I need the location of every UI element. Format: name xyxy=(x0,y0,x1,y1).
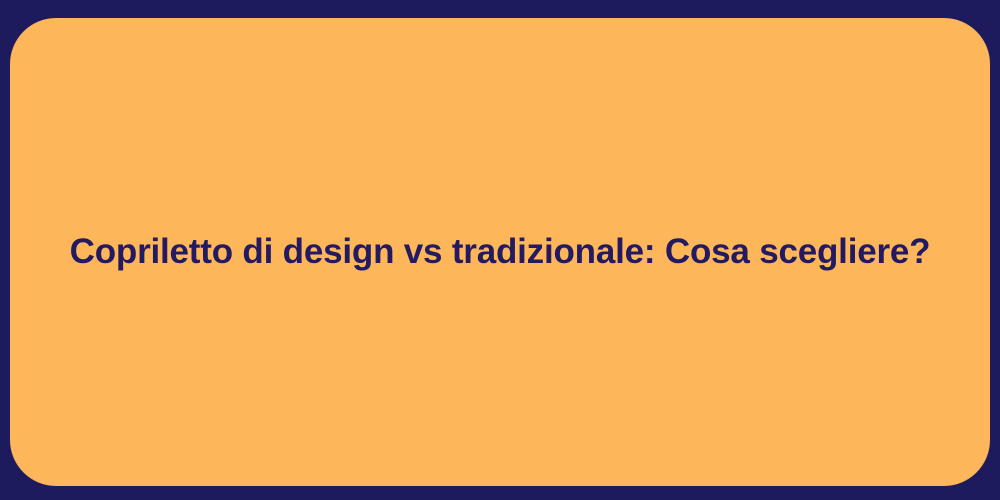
page-title: Copriletto di design vs tradizionale: Co… xyxy=(70,230,931,274)
page-background: Copriletto di design vs tradizionale: Co… xyxy=(0,0,1000,500)
hero-card: Copriletto di design vs tradizionale: Co… xyxy=(10,18,990,486)
hero-card-content: Copriletto di design vs tradizionale: Co… xyxy=(10,230,990,274)
